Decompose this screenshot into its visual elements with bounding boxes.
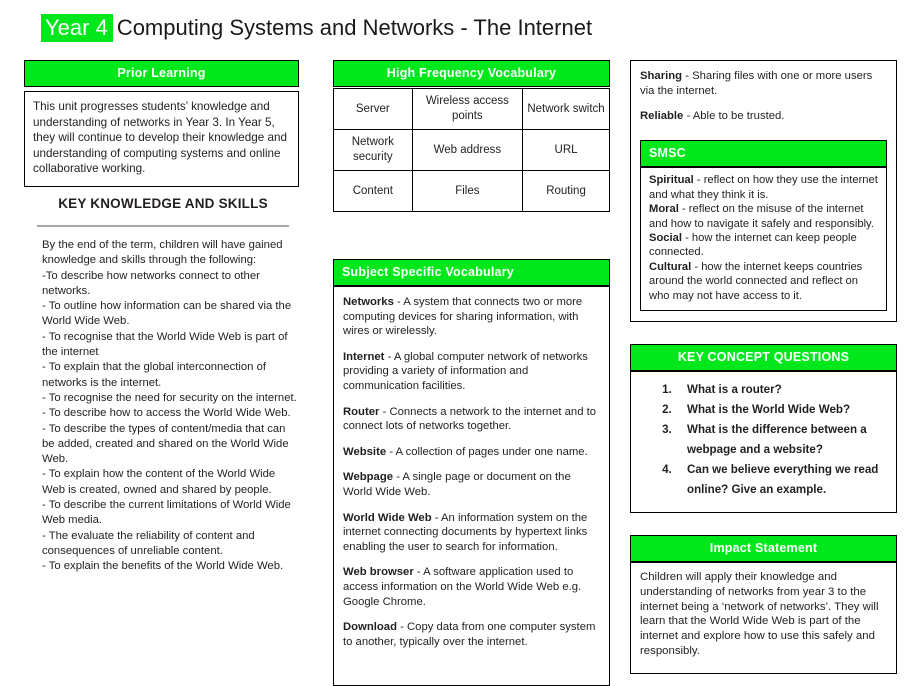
subject-specific-vocabulary-section: Subject Specific Vocabulary Networks - A…	[333, 259, 610, 686]
list-item: - To explain the benefits of the World W…	[42, 559, 298, 574]
impact-statement-section: Impact Statement Children will apply the…	[630, 535, 897, 674]
table-row: Server Wireless access points Network sw…	[334, 89, 610, 130]
vocab-term: Internet	[343, 351, 384, 363]
list-item: - The evaluate the reliability of conten…	[42, 529, 298, 560]
vocab-term: Sharing	[640, 70, 682, 82]
middle-column: High Frequency Vocabulary Server Wireles…	[333, 60, 610, 686]
page-title-text: Computing Systems and Networks - The Int…	[117, 15, 592, 40]
vocab-term: Website	[343, 446, 386, 458]
table-cell: Routing	[523, 171, 610, 212]
high-frequency-vocabulary-section: High Frequency Vocabulary Server Wireles…	[333, 60, 610, 212]
vocab-entry: Internet - A global computer network of …	[343, 350, 600, 394]
vocab-entry: Download - Copy data from one computer s…	[343, 620, 600, 649]
smsc-term: Moral	[649, 203, 679, 215]
table-cell: Files	[412, 171, 522, 212]
sharing-reliable-box: Sharing - Sharing files with one or more…	[630, 60, 897, 322]
list-item: What is a router?	[675, 380, 890, 400]
table-cell: Server	[334, 89, 413, 130]
vocab-entry: Website - A collection of pages under on…	[343, 445, 600, 460]
high-frequency-vocabulary-heading: High Frequency Vocabulary	[333, 60, 610, 87]
vocab-term: World Wide Web	[343, 512, 432, 524]
vocab-entry: Sharing - Sharing files with one or more…	[640, 69, 887, 98]
table-row: Network security Web address URL	[334, 130, 610, 171]
vocab-entry: Webpage - A single page or document on t…	[343, 470, 600, 499]
key-concept-questions-list: What is a router? What is the World Wide…	[637, 380, 890, 500]
vocab-definition: - Connects a network to the internet and…	[343, 406, 596, 433]
list-item: What is the difference between a webpage…	[675, 420, 890, 460]
prior-learning-body: This unit progresses students’ knowledge…	[24, 91, 299, 187]
vocab-entry: Networks - A system that connects two or…	[343, 295, 600, 339]
impact-statement-body: Children will apply their knowledge and …	[630, 562, 897, 674]
vocab-entry: Reliable - Able to be trusted.	[640, 109, 887, 124]
left-column: Prior Learning This unit progresses stud…	[24, 60, 299, 187]
smsc-term: Spiritual	[649, 174, 694, 186]
key-knowledge-and-skills-section: KEY KNOWLEDGE AND SKILLS By the end of t…	[24, 196, 302, 575]
smsc-term: Social	[649, 232, 682, 244]
key-knowledge-intro: By the end of the term, children will ha…	[42, 238, 298, 269]
right-column: Sharing - Sharing files with one or more…	[630, 60, 897, 674]
vocab-term: Webpage	[343, 471, 393, 483]
key-concept-questions-heading: KEY CONCEPT QUESTIONS	[630, 344, 897, 371]
table-cell: Web address	[412, 130, 522, 171]
table-cell: URL	[523, 130, 610, 171]
high-frequency-vocabulary-table: Server Wireless access points Network sw…	[333, 88, 610, 212]
table-cell: Network security	[334, 130, 413, 171]
key-concept-questions-section: KEY CONCEPT QUESTIONS What is a router? …	[630, 344, 897, 513]
smsc-definition: - reflect on the misuse of the internet …	[649, 203, 874, 229]
key-knowledge-list: By the end of the term, children will ha…	[24, 238, 302, 575]
list-item: - To describe the types of content/media…	[42, 422, 298, 468]
vocab-term: Reliable	[640, 110, 683, 122]
smsc-body: Spiritual - reflect on how they use the …	[640, 167, 887, 311]
smsc-entry: Cultural - how the internet keeps countr…	[649, 260, 878, 303]
smsc-entry: Moral - reflect on the misuse of the int…	[649, 202, 878, 231]
list-item: - To describe how to access the World Wi…	[42, 406, 298, 421]
vocab-entry: Router - Connects a network to the inter…	[343, 405, 600, 434]
table-cell: Network switch	[523, 89, 610, 130]
prior-learning-heading: Prior Learning	[24, 60, 299, 87]
impact-statement-heading: Impact Statement	[630, 535, 897, 562]
vocab-term: Networks	[343, 296, 394, 308]
vocab-definition: - Able to be trusted.	[683, 110, 784, 122]
table-cell: Content	[334, 171, 413, 212]
smsc-section: SMSC Spiritual - reflect on how they use…	[640, 140, 887, 311]
divider	[37, 225, 289, 227]
list-item: Can we believe everything we read online…	[675, 460, 890, 500]
list-item: -To describe how networks connect to oth…	[42, 269, 298, 300]
table-cell: Wireless access points	[412, 89, 522, 130]
list-item: - To recognise that the World Wide Web i…	[42, 330, 298, 361]
list-item: - To explain that the global interconnec…	[42, 360, 298, 391]
smsc-term: Cultural	[649, 261, 691, 273]
vocab-term: Web browser	[343, 566, 414, 578]
vocab-term: Router	[343, 406, 379, 418]
year-badge: Year 4	[41, 14, 113, 42]
page-title: Year 4Computing Systems and Networks - T…	[41, 13, 592, 43]
list-item: - To describe the current limitations of…	[42, 498, 298, 529]
list-item: - To recognise the need for security on …	[42, 391, 298, 406]
smsc-entry: Spiritual - reflect on how they use the …	[649, 173, 878, 202]
smsc-heading: SMSC	[640, 140, 887, 168]
list-item: - To outline how information can be shar…	[42, 299, 298, 330]
vocab-entry: World Wide Web - An information system o…	[343, 511, 600, 555]
vocab-definition: - A collection of pages under one name.	[386, 446, 588, 458]
key-concept-questions-body: What is a router? What is the World Wide…	[630, 371, 897, 513]
list-item: - To explain how the content of the Worl…	[42, 467, 298, 498]
table-row: Content Files Routing	[334, 171, 610, 212]
subject-specific-vocabulary-body: Networks - A system that connects two or…	[333, 286, 610, 686]
subject-specific-vocabulary-heading: Subject Specific Vocabulary	[333, 259, 610, 286]
key-knowledge-heading: KEY KNOWLEDGE AND SKILLS	[24, 196, 302, 225]
vocab-term: Download	[343, 621, 397, 633]
vocab-entry: Web browser - A software application use…	[343, 565, 600, 609]
list-item: What is the World Wide Web?	[675, 400, 890, 420]
smsc-entry: Social - how the internet can keep peopl…	[649, 231, 878, 260]
